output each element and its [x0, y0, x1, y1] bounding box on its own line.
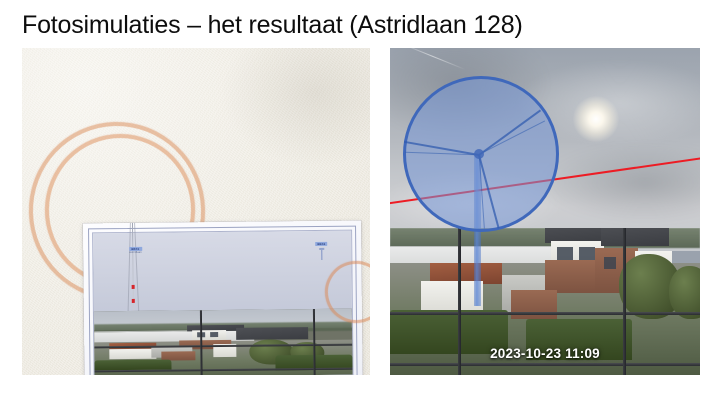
desk-shadow — [220, 48, 370, 168]
turbine-overlay — [403, 76, 559, 306]
sun — [573, 96, 619, 142]
sheet-label-wkc1-sub: Astridlaan — [129, 251, 142, 254]
rooftop-scene-printed — [94, 309, 353, 375]
right-simulation-photo: 2023-10-23 11:09 — [390, 48, 700, 375]
sheet-photo-strip — [94, 309, 353, 375]
rotor-hub — [474, 149, 484, 159]
page-title: Fotosimulaties – het resultaat (Astridla… — [22, 10, 523, 40]
sheet-label-wkc1: WKC1 Astridlaan — [129, 247, 142, 254]
sheet-label-wkc4: WKC4 — [315, 242, 327, 246]
printed-simulation-sheet: WKC1 Astridlaan WKC4 — [83, 221, 363, 375]
left-simulation-photo: WKC1 Astridlaan WKC4 — [22, 48, 370, 375]
sheet-label-wkc4-tag: WKC4 — [315, 242, 327, 246]
sheet-mini-turbine-icon — [319, 248, 324, 260]
slide: Fotosimulaties – het resultaat (Astridla… — [0, 0, 720, 404]
balcony-railing-printed — [94, 309, 353, 375]
photo-timestamp: 2023-10-23 11:09 — [390, 346, 700, 361]
